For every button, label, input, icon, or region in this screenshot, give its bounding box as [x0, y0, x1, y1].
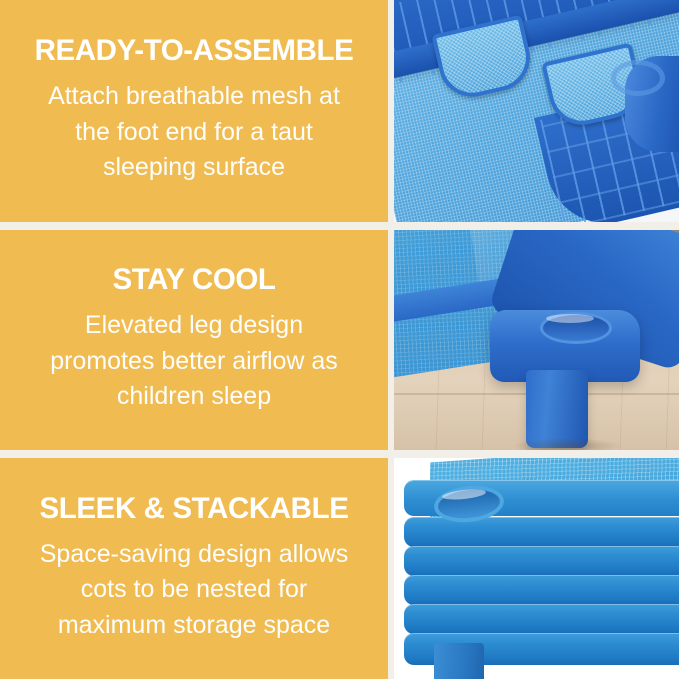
feature-row-sleek-stackable: SLEEK & STACKABLE Space-saving design al…: [0, 458, 679, 679]
text-panel-stay-cool: STAY COOL Elevated leg design promotes b…: [0, 230, 388, 450]
leg-floor-shadow: [512, 438, 622, 450]
elevated-leg: [526, 370, 588, 448]
leg-socket-highlight: [546, 314, 594, 323]
horizontal-divider: [0, 222, 679, 230]
feature-body: Attach breathable mesh at the foot end f…: [29, 79, 359, 186]
cot-layer: [404, 604, 679, 634]
feature-row-stay-cool: STAY COOL Elevated leg design promotes b…: [0, 230, 679, 450]
feature-headline: SLEEK & STACKABLE: [40, 494, 349, 525]
text-panel-sleek-stackable: SLEEK & STACKABLE Space-saving design al…: [0, 458, 388, 679]
bottom-cot-leg: [434, 643, 484, 679]
feature-row-ready-to-assemble: READY-TO-ASSEMBLE Attach breathable mesh…: [0, 0, 679, 222]
feature-headline: STAY COOL: [112, 265, 275, 296]
feature-body: Space-saving design allows cots to be ne…: [29, 537, 359, 644]
text-panel-ready-to-assemble: READY-TO-ASSEMBLE Attach breathable mesh…: [0, 0, 388, 222]
feature-infographic: READY-TO-ASSEMBLE Attach breathable mesh…: [0, 0, 679, 679]
feature-photo-elevated-leg: [394, 230, 679, 450]
cot-layer: [404, 575, 679, 605]
feature-photo-mesh-attachment: [394, 0, 679, 222]
horizontal-divider: [0, 450, 679, 458]
cot-layer: [404, 517, 679, 547]
stacked-cot-layers: [404, 480, 679, 656]
feature-headline: READY-TO-ASSEMBLE: [35, 36, 354, 67]
feature-photo-stacked-cots: [394, 458, 679, 679]
corner-socket-ring: [611, 60, 665, 96]
cot-layer: [404, 546, 679, 576]
feature-body: Elevated leg design promotes better airf…: [44, 308, 344, 415]
